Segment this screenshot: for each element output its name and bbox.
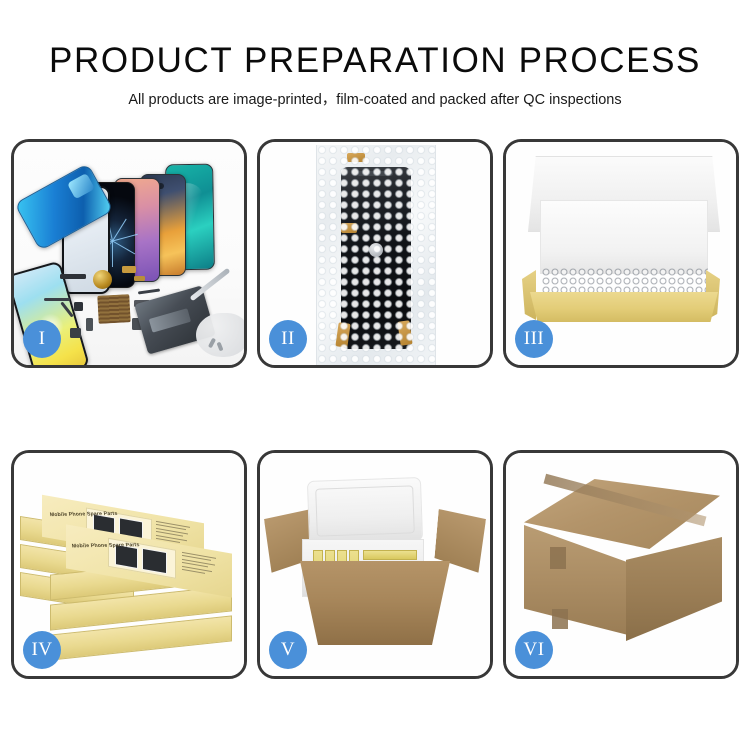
chip-square-1 [74, 302, 83, 311]
step-badge-4: IV [23, 631, 61, 669]
chip-bar-1 [60, 274, 86, 279]
foam-sheet [540, 200, 708, 274]
step-badge-2: II [269, 320, 307, 358]
process-step-panel-2: II [257, 139, 493, 368]
step-badge-5: V [269, 631, 307, 669]
process-step-panel-4: Mobile Phone Spare Parts Mobile Phone Sp… [11, 450, 247, 679]
flex-cable-1 [44, 298, 70, 301]
chip-gold-1 [122, 266, 136, 273]
step-badge-6: VI [515, 631, 553, 669]
bubble-texture [317, 145, 435, 365]
process-step-panel-5: V [257, 450, 493, 679]
process-step-panel-1: I [11, 139, 247, 368]
spec-lines-lower [182, 552, 218, 579]
screen-thumb-l2 [142, 548, 167, 574]
foam-box-lid [307, 477, 423, 545]
step-badge-3: III [515, 320, 553, 358]
chip-square-2 [86, 318, 93, 331]
page-subtitle: All products are image-printed，film-coat… [0, 90, 750, 110]
chip-square-3 [70, 328, 81, 338]
page-title: PRODUCT PREPARATION PROCESS [0, 41, 750, 81]
bubble-wrap-bag [316, 145, 436, 365]
ic-chip-grid [97, 294, 130, 324]
box-label-text-lower: Mobile Phone Spare Parts [71, 542, 140, 549]
carton-tape-lower [552, 609, 568, 629]
yellow-box-h1 [363, 550, 417, 560]
box-label-text-upper: Mobile Phone Spare Parts [49, 511, 118, 518]
process-step-panel-3: III [503, 139, 739, 368]
chip-gold-2 [134, 276, 145, 281]
box-front-panel [530, 292, 718, 322]
process-step-grid: I II III [11, 139, 739, 679]
step-badge-1: I [23, 320, 61, 358]
page-header: PRODUCT PREPARATION PROCESS All products… [0, 0, 750, 110]
process-step-panel-6: VI [503, 450, 739, 679]
gold-component [93, 270, 112, 289]
carton-tape-upper [550, 547, 566, 569]
carton-body [300, 561, 450, 645]
